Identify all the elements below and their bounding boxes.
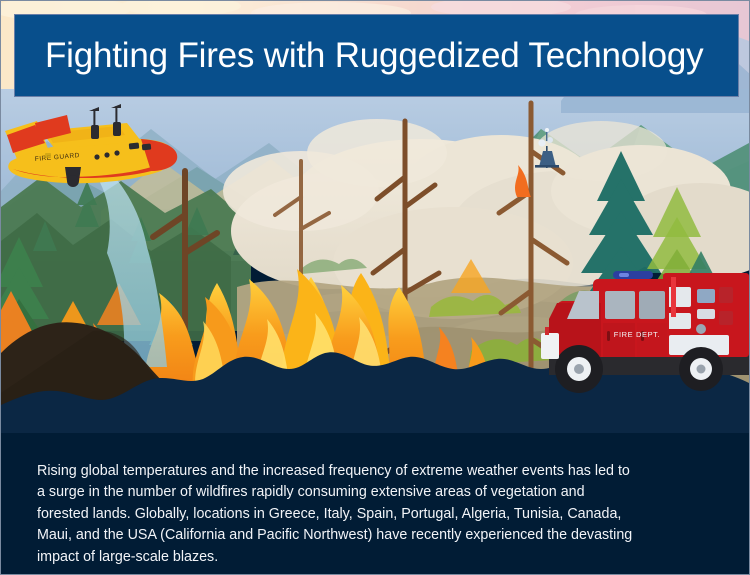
page-title: Fighting Fires with Ruggedized Technolog… <box>15 36 703 76</box>
slide-root: FIRE DEPT. <box>0 0 750 575</box>
body-paragraph: Rising global temperatures and the incre… <box>37 461 637 568</box>
title-banner: Fighting Fires with Ruggedized Technolog… <box>14 14 739 97</box>
footer-panel: Rising global temperatures and the incre… <box>1 433 749 574</box>
fire-truck-label: FIRE DEPT. <box>614 330 660 339</box>
